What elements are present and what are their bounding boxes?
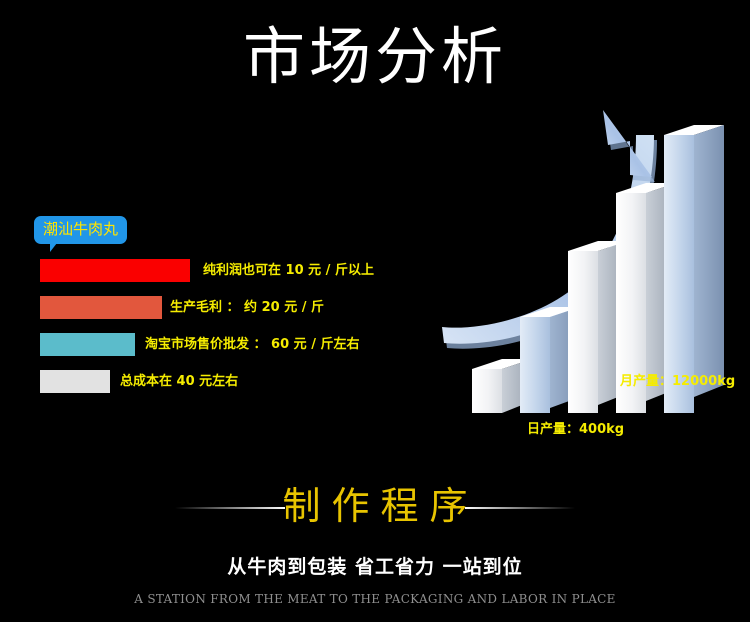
bar-label-wholesale-price: 淘宝市场售价批发 ： 60 元 / 斤左右 (145, 335, 359, 354)
note-daily-output: 日产量：400kg (527, 421, 624, 439)
footer-section: 制作程序 从牛肉到包装 省工省力 一站到位 A STATION FROM THE… (0, 480, 750, 607)
footer-subtitle-en: A STATION FROM THE MEAT TO THE PACKAGING… (0, 591, 750, 607)
bar-label-total-cost: 总成本在 40 元左右 (120, 372, 238, 391)
badge-tail-icon (50, 243, 57, 252)
bar-label-profit: 纯利润也可在 10 元 / 斤以上 (203, 261, 374, 280)
bar-fill-profit (40, 259, 190, 282)
bar-label-gross-margin: 生产毛利 ： 约 20 元 / 斤 (170, 298, 324, 317)
section-title: 制作程序 (0, 480, 750, 532)
product-badge: 潮汕牛肉丸 (34, 216, 127, 244)
product-badge-label: 潮汕牛肉丸 (34, 216, 127, 244)
market-analysis-banner: 市场分析 潮汕牛肉丸 纯利润也可在 10 元 / 斤以上 生产毛利 ： 约 20… (0, 0, 750, 622)
divider-right (465, 507, 575, 509)
column-5 (664, 125, 724, 413)
page-title: 市场分析 (0, 18, 750, 96)
bar-fill-gross-margin (40, 296, 162, 319)
bar-fill-total-cost (40, 370, 110, 393)
note-monthly-output: 月产量：12000kg (620, 373, 735, 391)
bar-fill-wholesale-price (40, 333, 135, 356)
section-heading: 制作程序 (0, 480, 750, 538)
footer-subtitle-cn: 从牛肉到包装 省工省力 一站到位 (0, 554, 750, 580)
